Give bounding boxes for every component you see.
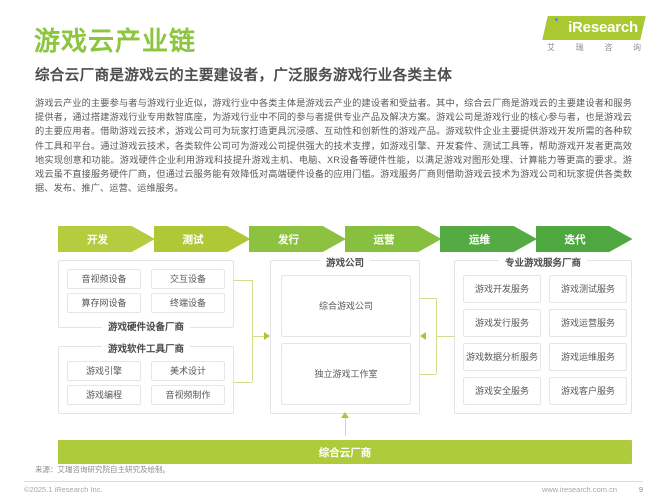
footer-divider — [24, 481, 643, 482]
page-subtitle: 综合云厂商是游戏云的主要建设者，广泛服务游戏行业各类主体 — [35, 64, 452, 85]
process-stage-label: 运营 — [374, 232, 395, 247]
diagram-cell[interactable]: 美术设计 — [151, 361, 225, 381]
process-stage-3[interactable]: 运营 — [345, 226, 442, 252]
connector-arrow-icon — [341, 412, 349, 418]
page-title: 游戏云产业链 — [34, 28, 196, 54]
hardware-group: 游戏硬件设备厂商音视频设备交互设备算存网设备终端设备 — [58, 260, 234, 328]
software-group-label: 游戏软件工具厂商 — [102, 341, 190, 355]
hardware-group-label: 游戏硬件设备厂商 — [102, 319, 190, 333]
software-group: 游戏软件工具厂商游戏引擎美术设计游戏编程音视频制作 — [58, 346, 234, 414]
diagram-cell[interactable]: 音视频制作 — [151, 385, 225, 405]
diagram-cell[interactable]: 独立游戏工作室 — [281, 343, 411, 405]
diagram-cell[interactable]: 算存网设备 — [67, 293, 141, 313]
diagram-cell[interactable]: 游戏测试服务 — [549, 275, 627, 303]
connector-line — [252, 280, 253, 382]
diagram-cell[interactable]: 交互设备 — [151, 269, 225, 289]
connector-arrow-icon — [420, 332, 426, 340]
diagram-cell[interactable]: 游戏编程 — [67, 385, 141, 405]
process-stage-5[interactable]: 迭代 — [536, 226, 633, 252]
connector-line — [420, 298, 436, 299]
diagram-cell[interactable]: 游戏运维服务 — [549, 343, 627, 371]
service-group-label: 专业游戏服务厂商 — [499, 255, 587, 269]
process-stage-label: 开发 — [87, 232, 108, 247]
company-group: 游戏公司综合游戏公司独立游戏工作室 — [270, 260, 420, 414]
logo-text: iResearch — [535, 16, 643, 40]
logo-sub-char-2: 咨 — [604, 42, 612, 53]
logo-sub-char-3: 询 — [633, 42, 641, 53]
cloud-vendor-bar-label: 综合云厂商 — [319, 445, 372, 460]
source-note: 来源：艾瑞咨询研究院自主研究及绘制。 — [35, 464, 170, 475]
process-stage-label: 测试 — [183, 232, 204, 247]
connector-arrow-icon — [264, 332, 270, 340]
company-group-label: 游戏公司 — [320, 255, 370, 269]
diagram-cell[interactable]: 游戏运营服务 — [549, 309, 627, 337]
process-chevron-bar: 开发测试发行运营运维迭代 — [58, 226, 632, 252]
industry-chain-diagram: 游戏硬件设备厂商音视频设备交互设备算存网设备终端设备游戏软件工具厂商游戏引擎美术… — [58, 258, 632, 436]
connector-line — [436, 298, 437, 374]
process-stage-label: 运维 — [469, 232, 490, 247]
footer-website: www.iresearch.com.cn — [542, 485, 617, 494]
diagram-cell[interactable]: 游戏数据分析服务 — [463, 343, 541, 371]
process-stage-2[interactable]: 发行 — [249, 226, 346, 252]
diagram-cell[interactable]: 音视频设备 — [67, 269, 141, 289]
diagram-cell[interactable]: 游戏引擎 — [67, 361, 141, 381]
diagram-cell[interactable]: 游戏安全服务 — [463, 377, 541, 405]
logo-sub-char-0: 艾 — [547, 42, 555, 53]
process-stage-label: 迭代 — [565, 232, 586, 247]
connector-line — [436, 336, 454, 337]
diagram-cell[interactable]: 综合游戏公司 — [281, 275, 411, 337]
process-stage-label: 发行 — [278, 232, 299, 247]
slide-page: 游戏云产业链 综合云厂商是游戏云的主要建设者，广泛服务游戏行业各类主体 iRes… — [0, 0, 667, 500]
diagram-cell[interactable]: 游戏发行服务 — [463, 309, 541, 337]
process-stage-4[interactable]: 运维 — [440, 226, 537, 252]
footer-page-number: 9 — [639, 485, 643, 494]
connector-line — [234, 382, 252, 383]
footer: ©2025.1 iResearch Inc. www.iresearch.com… — [24, 485, 643, 497]
body-paragraph: 游戏云产业的主要参与者与游戏行业近似，游戏行业中各类主体是游戏云产业的建设者和受… — [35, 96, 632, 195]
footer-copyright: ©2025.1 iResearch Inc. — [24, 485, 103, 494]
cloud-vendor-bar: 综合云厂商 — [58, 440, 632, 464]
diagram-cell[interactable]: 终端设备 — [151, 293, 225, 313]
process-stage-1[interactable]: 测试 — [154, 226, 251, 252]
service-group: 专业游戏服务厂商游戏开发服务游戏测试服务游戏发行服务游戏运营服务游戏数据分析服务… — [454, 260, 632, 414]
logo-subtext: 艾 瑞 咨 询 — [547, 42, 641, 53]
connector-line — [234, 280, 252, 281]
process-stage-0[interactable]: 开发 — [58, 226, 155, 252]
diagram-cell[interactable]: 游戏客户服务 — [549, 377, 627, 405]
connector-line — [420, 374, 436, 375]
iresearch-logo: iResearch 艾 瑞 咨 询 — [535, 16, 643, 58]
diagram-cell[interactable]: 游戏开发服务 — [463, 275, 541, 303]
logo-sub-char-1: 瑞 — [576, 42, 584, 53]
